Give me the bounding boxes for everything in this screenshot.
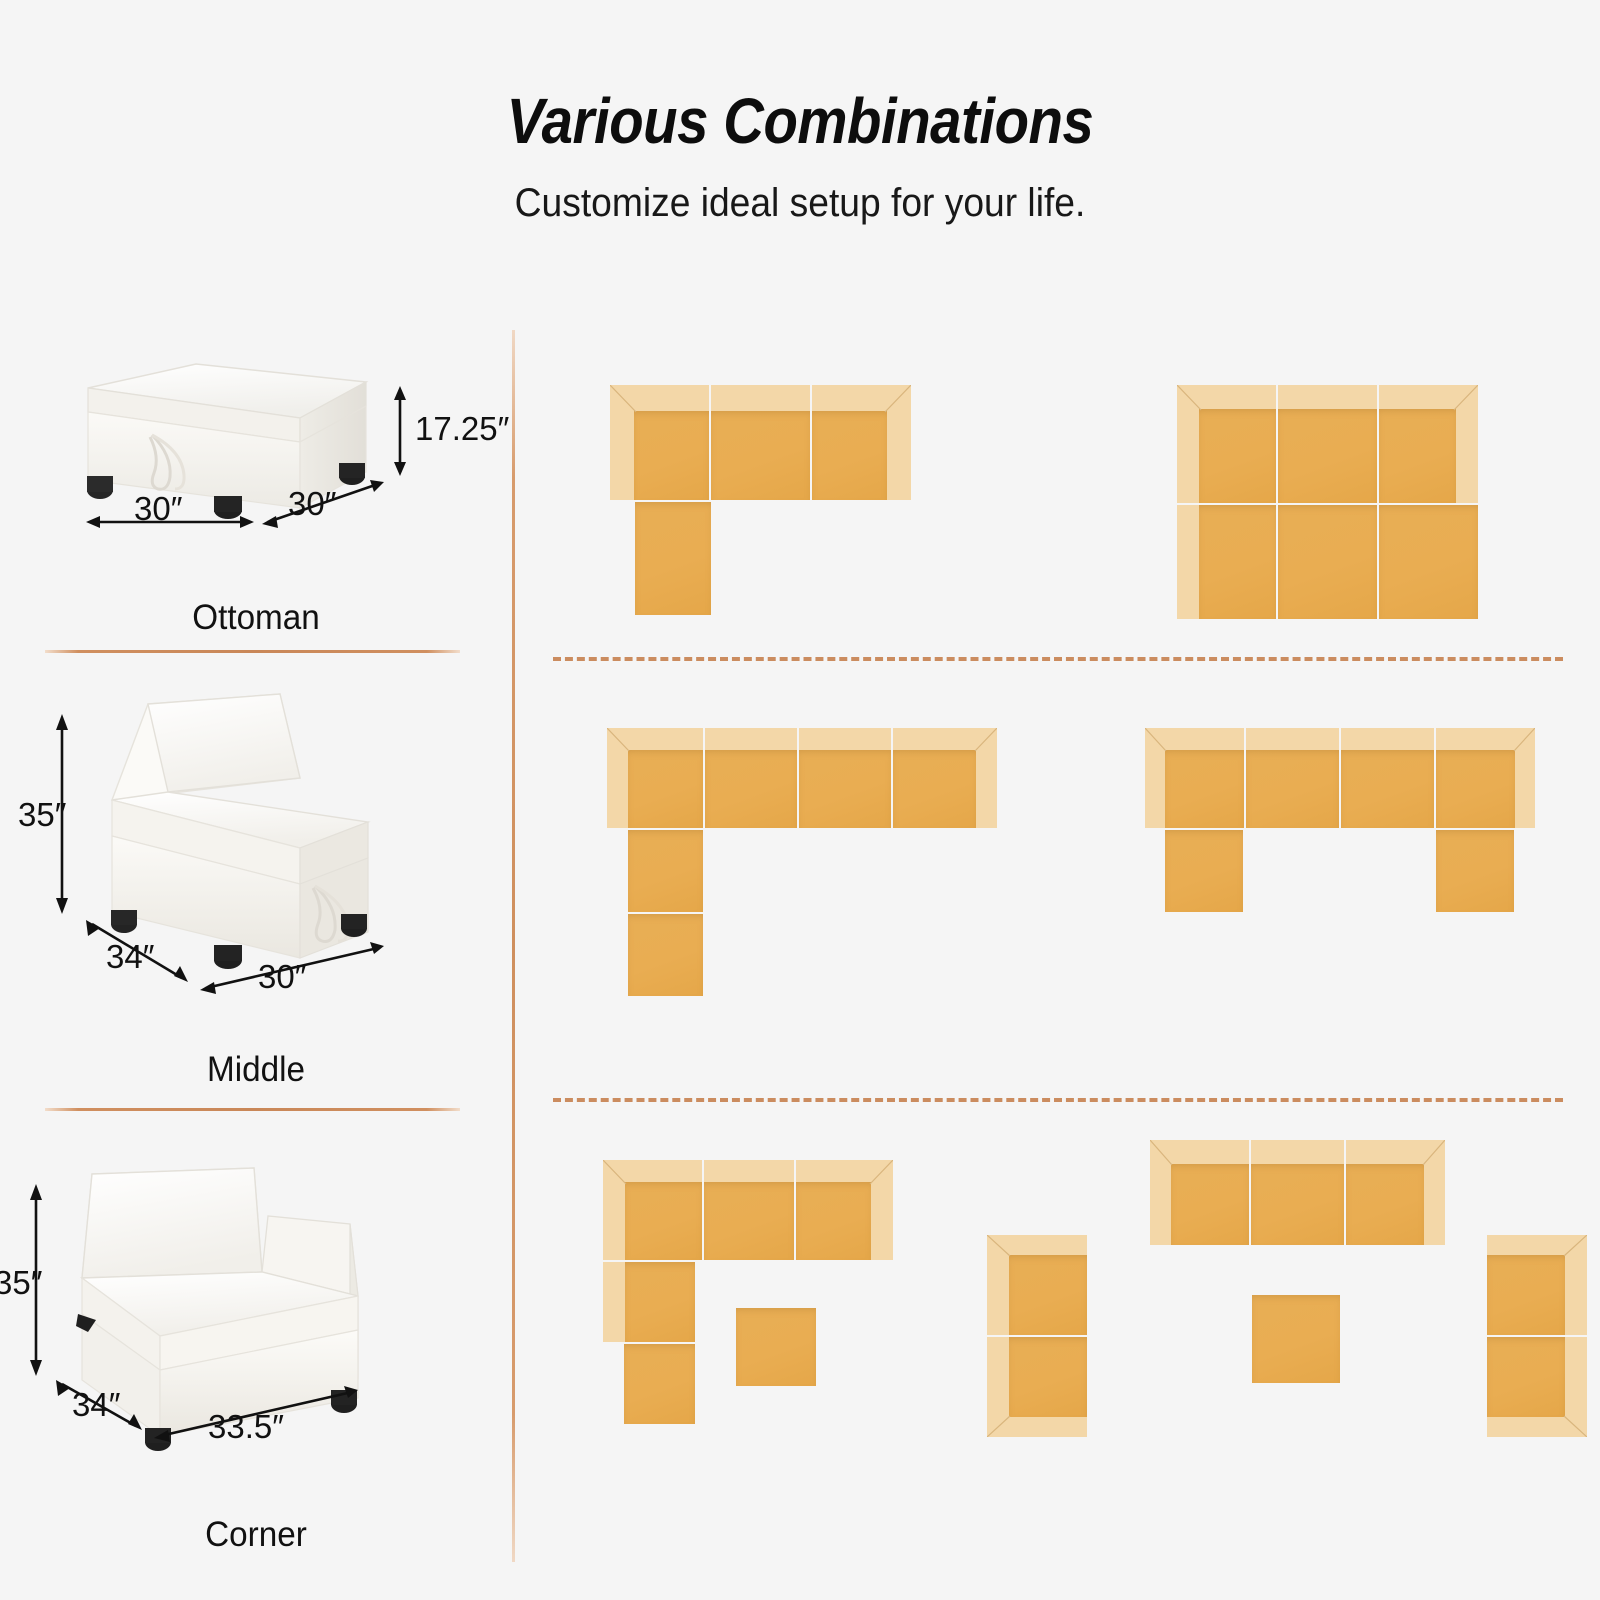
modules-column: 17.25″ 30″ 30″ Ottoman xyxy=(0,330,512,1570)
combinations-column xyxy=(515,330,1600,1570)
seat-module xyxy=(1177,505,1276,619)
seat-module xyxy=(796,1160,893,1260)
seat-module xyxy=(603,1160,702,1260)
combination-1[interactable] xyxy=(610,385,910,615)
middle-illustration: 35″ 34″ 30″ xyxy=(0,670,512,1040)
corner-height-dim: 35″ xyxy=(0,1264,42,1302)
seat-module xyxy=(1379,505,1478,619)
corner-width-dim: 33.5″ xyxy=(208,1408,284,1446)
seat-module xyxy=(1436,830,1514,912)
ottoman-label: Ottoman xyxy=(13,598,499,638)
divider-middle-corner xyxy=(45,1108,460,1111)
ottoman-width-dim: 30″ xyxy=(134,490,182,528)
seat-module xyxy=(1150,1140,1249,1245)
page-subtitle: Customize ideal setup for your life. xyxy=(56,181,1544,226)
ottoman-drawing xyxy=(0,330,512,580)
seat-module xyxy=(987,1337,1087,1437)
combination-4[interactable] xyxy=(1145,728,1565,943)
seat-module xyxy=(628,830,703,912)
seat-module xyxy=(610,385,709,500)
corner-label: Corner xyxy=(13,1515,499,1555)
middle-width-dim: 30″ xyxy=(258,958,306,996)
module-corner: 35″ 34″ 33.5″ Corner xyxy=(0,1130,512,1570)
seat-module xyxy=(635,502,711,615)
seat-module xyxy=(607,728,703,828)
seat-module xyxy=(1346,1140,1445,1245)
seat-module xyxy=(1251,1140,1344,1245)
page-title: Various Combinations xyxy=(96,88,1504,155)
seat-module xyxy=(799,728,891,828)
ottoman-module xyxy=(736,1308,816,1386)
seat-module xyxy=(1246,728,1339,828)
seat-module xyxy=(704,1160,794,1260)
ottoman-height-dim: 17.25″ xyxy=(415,410,509,448)
ottoman-illustration: 17.25″ 30″ 30″ xyxy=(0,330,512,580)
divider-row1-row2 xyxy=(553,657,1563,661)
ottoman-module xyxy=(1252,1295,1340,1383)
middle-depth-dim: 34″ xyxy=(106,938,154,976)
middle-label: Middle xyxy=(13,1050,499,1090)
seat-module xyxy=(1278,505,1377,619)
combination-2[interactable] xyxy=(1177,385,1477,620)
seat-module xyxy=(624,1344,695,1424)
infographic-page: Various Combinations Customize ideal set… xyxy=(0,0,1600,1600)
combination-5[interactable] xyxy=(603,1160,933,1460)
seat-module xyxy=(1436,728,1535,828)
middle-drawing xyxy=(0,670,512,1040)
seat-module xyxy=(987,1235,1087,1335)
combination-3[interactable] xyxy=(607,728,997,1020)
header: Various Combinations Customize ideal set… xyxy=(0,88,1600,226)
seat-module xyxy=(628,914,703,996)
seat-module xyxy=(1177,385,1276,503)
seat-module xyxy=(1487,1337,1587,1437)
seat-module xyxy=(603,1262,695,1342)
module-ottoman: 17.25″ 30″ 30″ Ottoman xyxy=(0,330,512,650)
divider-ottoman-middle xyxy=(45,650,460,653)
seat-module xyxy=(1145,728,1244,828)
seat-module xyxy=(893,728,997,828)
corner-illustration: 35″ 34″ 33.5″ xyxy=(0,1130,512,1505)
corner-drawing xyxy=(0,1130,512,1505)
combination-6[interactable] xyxy=(987,1140,1587,1460)
ottoman-depth-dim: 30″ xyxy=(288,485,336,523)
seat-module xyxy=(705,728,797,828)
seat-module xyxy=(711,385,810,500)
seat-module xyxy=(1487,1235,1587,1335)
seat-module xyxy=(812,385,911,500)
seat-module xyxy=(1165,830,1243,912)
module-middle: 35″ 34″ 30″ Middle xyxy=(0,670,512,1100)
seat-module xyxy=(1379,385,1478,503)
corner-depth-dim: 34″ xyxy=(72,1386,120,1424)
middle-height-dim: 35″ xyxy=(18,796,66,834)
divider-row2-row3 xyxy=(553,1098,1563,1102)
seat-module xyxy=(1341,728,1434,828)
seat-module xyxy=(1278,385,1377,503)
